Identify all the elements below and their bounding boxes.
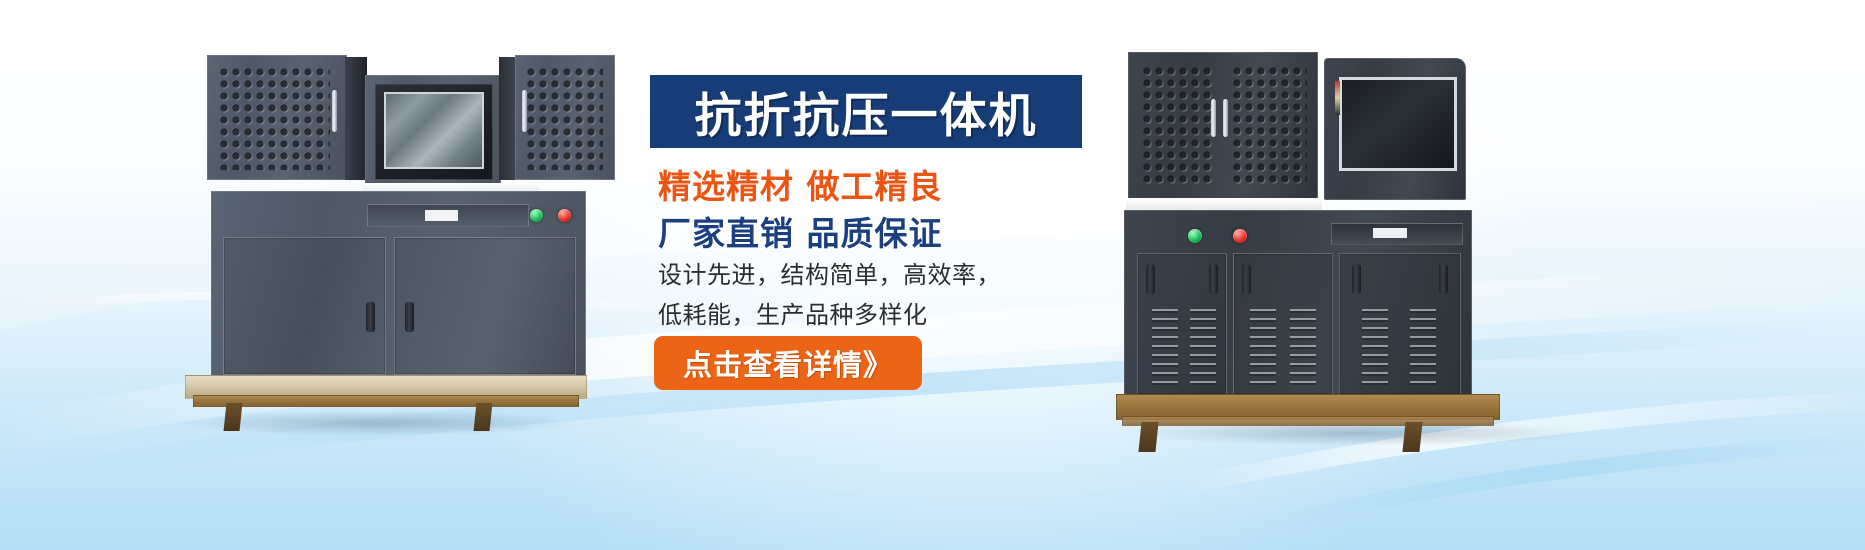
perforated-panel-left [1141,65,1215,187]
door-handle [1242,264,1251,294]
perforated-panel-right [1231,65,1307,187]
console-door-left [223,237,386,375]
description-block: 设计先进，结构简单，高效率， 低耗能，生产品种多样化 [658,255,1128,335]
right-monitor-housing [1324,58,1466,200]
right-vent-door-2 [1233,253,1333,395]
right-control-label-tag [1373,228,1407,238]
control-label-tag [425,210,458,221]
perforated-panel [218,66,330,170]
door-handle [1439,264,1448,294]
right-top-perforated-cabinet [1128,52,1318,200]
ventilation-louvers [1410,309,1436,387]
door-handle [405,302,414,332]
pallet-bottom-plank [193,395,579,407]
ventilation-louvers [1190,309,1216,387]
ventilation-louvers [1290,309,1316,387]
pallet-leg [1402,422,1422,452]
marketing-copy-column: 抗折抗压一体机 精选精材 做工精良 厂家直销 品质保证 设计先进，结构简单，高效… [612,0,1132,550]
product-image-right [1118,30,1598,440]
monitor-button-strip [1335,81,1340,115]
headline-banner: 抗折抗压一体机 [650,75,1082,148]
pallet-leg [474,403,493,431]
right-console-body [1124,210,1472,400]
main-console-body [211,191,586,381]
door-handle [366,302,375,332]
monitor-housing [365,75,501,187]
pallet-leg [1138,422,1158,452]
perforated-panel [525,66,603,170]
view-details-label: 点击查看详情》 [683,342,893,384]
monitor-screen [384,92,484,169]
headline-text: 抗折抗压一体机 [695,77,1038,146]
green-indicator[interactable] [530,209,543,222]
description-line-1: 设计先进，结构简单，高效率， [658,255,1128,295]
right-vent-door-3 [1339,253,1461,395]
right-upper-perforated-cabinet [515,55,615,180]
red-indicator[interactable] [1233,229,1247,243]
right-vent-door-1 [1137,253,1227,395]
product-image-left [165,45,585,430]
door-handle [1352,264,1361,294]
cabinet-handle-right [1223,99,1228,137]
ventilation-louvers [1362,309,1388,387]
door-handle [1209,264,1218,294]
description-line-2: 低耗能，生产品种多样化 [658,295,1128,335]
door-handle [1146,264,1155,294]
cabinet-handle [522,90,527,132]
left-upper-perforated-cabinet [207,55,347,180]
green-indicator[interactable] [1188,229,1202,243]
pallet-bottom-plank [1122,416,1494,426]
promo-banner: 抗折抗压一体机 精选精材 做工精良 厂家直销 品质保证 设计先进，结构简单，高效… [0,0,1865,550]
cabinet-handle-left [1211,99,1216,137]
tagline-blue: 厂家直销 品质保证 [658,207,1128,255]
monitor-bezel [375,84,493,180]
wooden-pallet-left [185,375,585,431]
cabinet-handle [332,90,337,132]
left-cabinet-side-depth [345,57,367,180]
console-door-right [394,237,576,375]
tagline-orange: 精选精材 做工精良 [658,160,1128,208]
red-indicator[interactable] [558,209,571,222]
right-monitor-screen [1339,77,1457,171]
pallet-leg [224,403,243,431]
ventilation-louvers [1152,309,1178,387]
view-details-button[interactable]: 点击查看详情》 [654,336,922,390]
ventilation-louvers [1250,309,1276,387]
wooden-pallet-right [1116,394,1498,454]
